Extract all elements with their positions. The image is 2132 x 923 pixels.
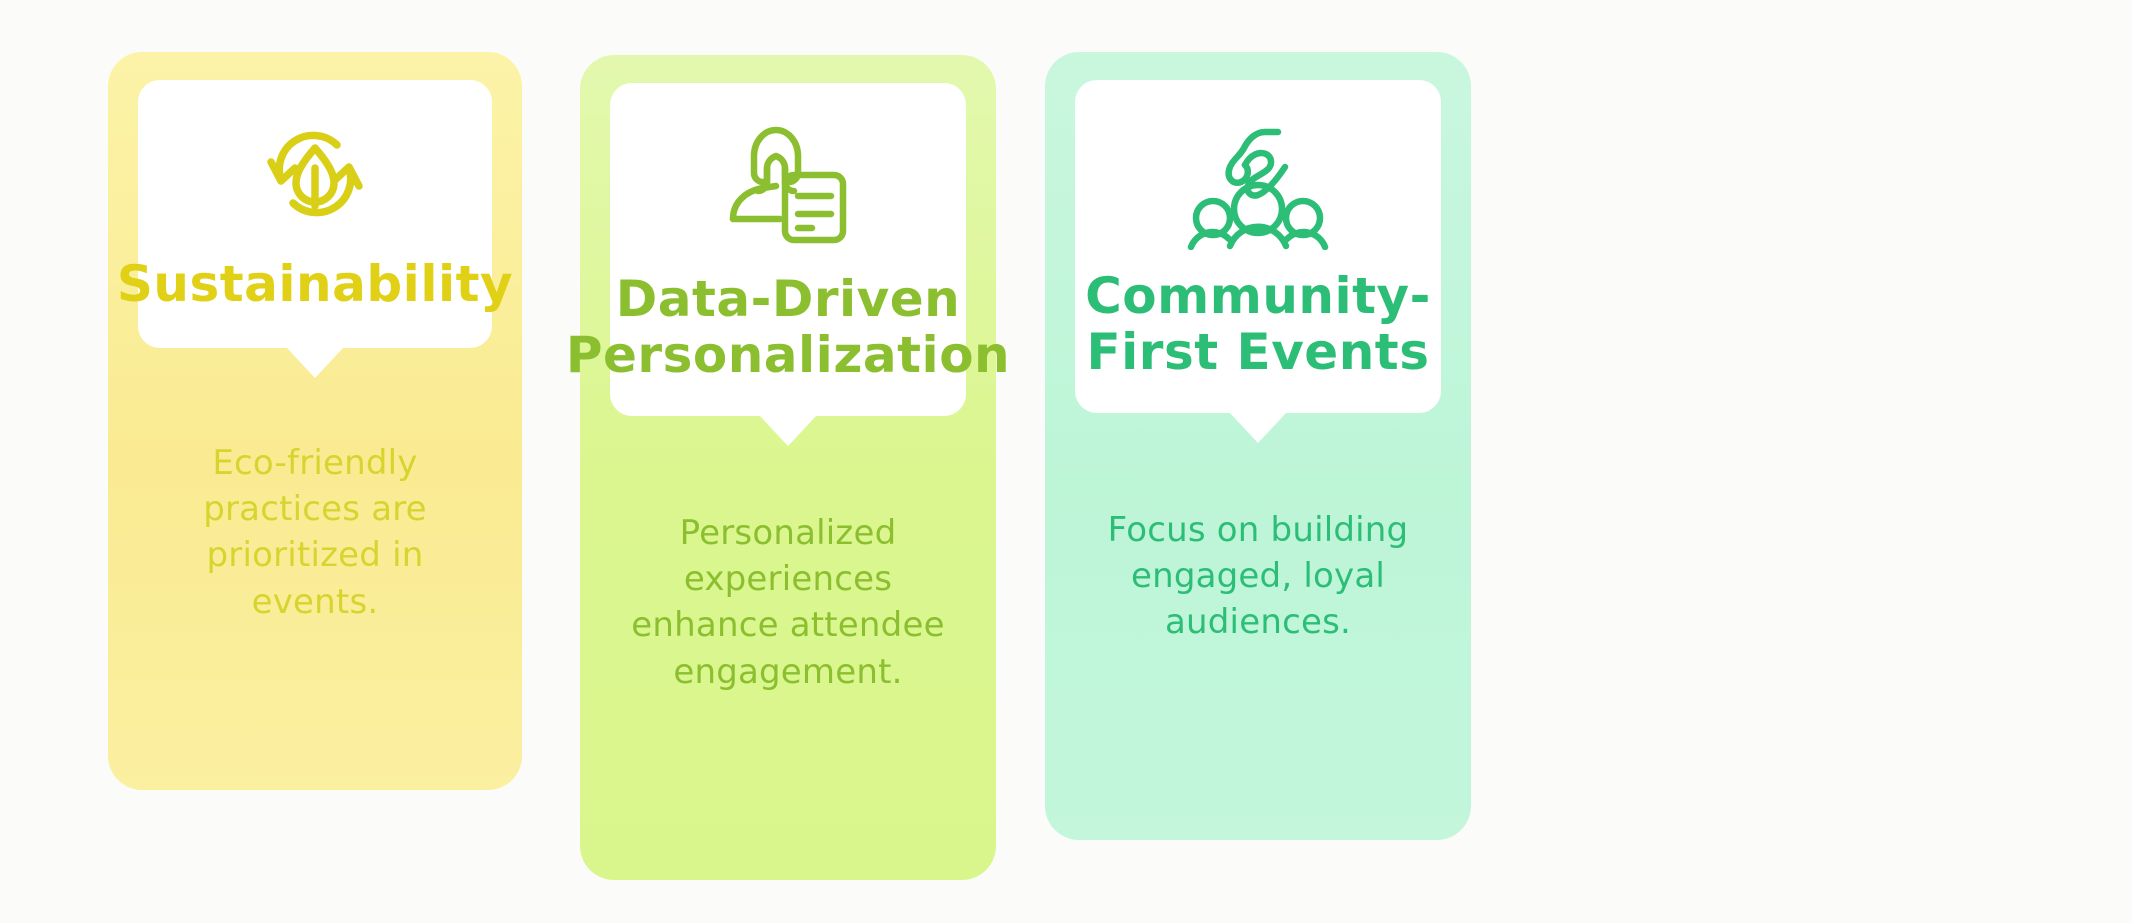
card-body-text: Personalized experiences enhance attende…: [580, 510, 996, 695]
card-panel: Data-Driven Personalization: [610, 83, 966, 416]
card-title: Sustainability: [117, 256, 513, 312]
card-community-first-events[interactable]: Community-First Events Focus on building…: [1045, 52, 1471, 840]
card-body-text: Eco-friendly practices are prioritized i…: [108, 440, 522, 625]
person-document-icon: [713, 117, 863, 249]
card-body-text: Focus on building engaged, loyal audienc…: [1045, 507, 1471, 646]
card-sustainability[interactable]: Sustainability Eco-friendly practices ar…: [108, 52, 522, 790]
cards-board: Sustainability Eco-friendly practices ar…: [0, 0, 2132, 923]
card-panel: Community-First Events: [1075, 80, 1441, 413]
card-title: Data-Driven Personalization: [566, 271, 1010, 383]
card-title: Community-First Events: [1075, 268, 1441, 380]
card-data-driven-personalization[interactable]: Data-Driven Personalization Personalized…: [580, 55, 996, 880]
recycle-leaf-icon: [251, 122, 379, 226]
card-panel: Sustainability: [138, 80, 492, 348]
people-group-icon: [1183, 114, 1333, 246]
